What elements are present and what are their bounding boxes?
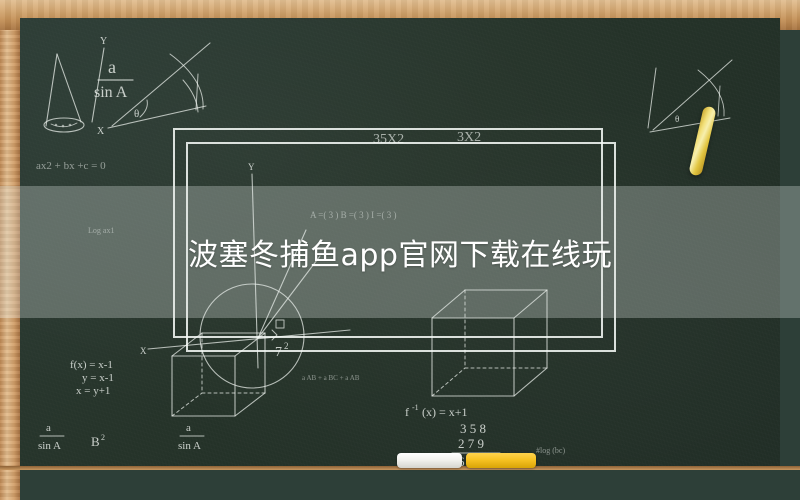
svg-text:Y: Y xyxy=(100,36,107,47)
svg-text:X: X xyxy=(140,346,147,356)
svg-text:a: a xyxy=(46,422,51,434)
svg-text:sin A: sin A xyxy=(38,440,61,452)
svg-text:f(x) = x-1: f(x) = x-1 xyxy=(70,359,113,371)
svg-text:a: a xyxy=(186,422,191,434)
svg-text:X: X xyxy=(97,126,105,137)
svg-text:θ: θ xyxy=(134,108,139,120)
a-over-sina-small-center: a sin A xyxy=(178,422,204,452)
svg-text:2: 2 xyxy=(101,433,105,442)
svg-text:y = x-1: y = x-1 xyxy=(82,372,114,384)
cone-drawing xyxy=(44,54,84,132)
yellow-chalk-piece xyxy=(466,453,536,468)
angle-diagram-right: θ xyxy=(648,60,732,132)
a-over-sina-small-left: a sin A xyxy=(38,422,64,452)
svg-text:a: a xyxy=(108,57,116,77)
f-inverse-formula: f -1 (x) = x+1 xyxy=(405,403,468,419)
page-title: 波塞冬捕鱼app官网下载在线玩 xyxy=(0,186,800,318)
quadratic-equation: ax2 + bx +c = 0 xyxy=(36,160,106,172)
svg-text:sin A: sin A xyxy=(178,440,201,452)
chalkboard-screenshot: a sin A ax2 + bx +c = 0 Y X θ xyxy=(0,0,800,500)
svg-text:3 5 8: 3 5 8 xyxy=(460,421,486,436)
triangle-expression: a AB + a BC + a AB xyxy=(302,374,360,382)
svg-text:2 7 9: 2 7 9 xyxy=(458,436,484,451)
page-title-text: 波塞冬捕鱼app官网下载在线玩 xyxy=(188,230,612,274)
svg-text:-1: -1 xyxy=(412,403,419,412)
svg-text:x = y+1: x = y+1 xyxy=(76,385,110,397)
svg-text:B: B xyxy=(91,434,100,449)
svg-text:(x) = x+1: (x) = x+1 xyxy=(422,405,468,419)
b-squared: B 2 xyxy=(91,433,105,449)
svg-text:θ: θ xyxy=(675,114,679,124)
log-bc-label: #log (bc) xyxy=(536,446,565,455)
a-over-sina-formula: a sin A xyxy=(94,57,133,101)
svg-text:sin A: sin A xyxy=(94,84,128,101)
function-formulas: f(x) = x-1 y = x-1 x = y+1 xyxy=(70,359,114,397)
svg-text:f: f xyxy=(405,405,409,419)
white-chalk-piece xyxy=(397,453,462,468)
